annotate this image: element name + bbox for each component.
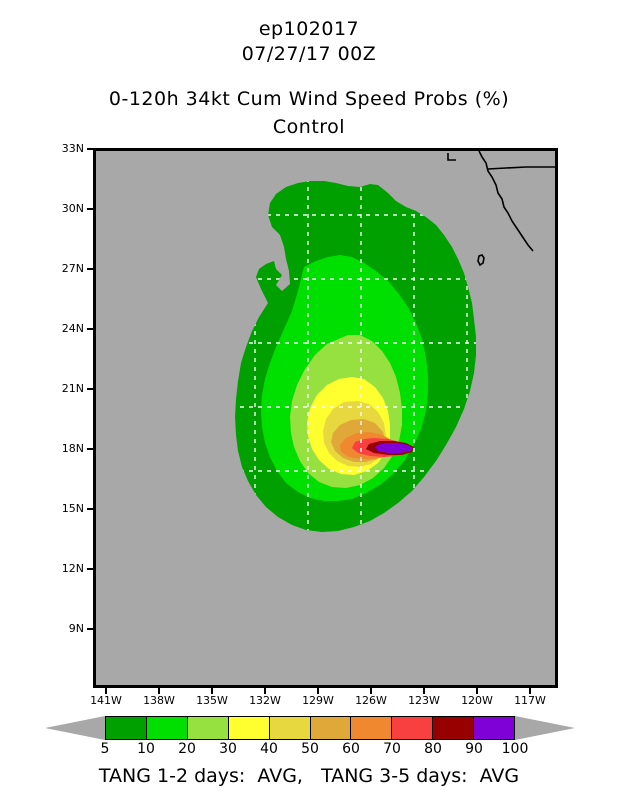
map-plot-area [96, 151, 555, 685]
colorbar-segments [105, 716, 515, 740]
y-tick-30n [87, 208, 93, 210]
colorbar-seg-80-90 [433, 717, 474, 739]
product-title: 0-120h 34kt Cum Wind Speed Probs (%) [0, 88, 618, 110]
y-tick-9n [87, 628, 93, 630]
y-tick-12n [87, 568, 93, 570]
y-tick-label-21n: 21N [50, 382, 84, 395]
y-tick-label-30n: 30N [50, 202, 84, 215]
y-tick-label-33n: 33N [50, 142, 84, 155]
y-tick-27n [87, 268, 93, 270]
colorbar-tick-100: 100 [495, 741, 535, 757]
y-tick-24n [87, 328, 93, 330]
guadalupe-island [478, 255, 484, 265]
x-tick-label-120w: 120W [457, 694, 497, 707]
x-tick-label-123w: 123W [404, 694, 444, 707]
tang-caption: TANG 1-2 days: AVG, TANG 3-5 days: AVG [0, 765, 618, 787]
colorbar-seg-90-100 [474, 717, 514, 739]
colorbar-seg-5-10 [106, 717, 147, 739]
colorbar-tick-40: 40 [249, 741, 289, 757]
map-plot-panel[interactable] [93, 148, 558, 688]
x-tick-label-117w: 117W [510, 694, 550, 707]
colorbar-seg-30-40 [229, 717, 270, 739]
x-tick-label-126w: 126W [351, 694, 391, 707]
colorbar-tick-5: 5 [85, 741, 125, 757]
x-tick-label-129w: 129W [298, 694, 338, 707]
storm-id-title: ep102017 [0, 18, 618, 40]
coastline-inland-border [488, 167, 555, 169]
colorbar-tick-10: 10 [126, 741, 166, 757]
valid-datetime-title: 07/27/17 00Z [0, 43, 618, 65]
y-tick-33n [87, 148, 93, 150]
colorbar-tick-90: 90 [454, 741, 494, 757]
colorbar-seg-20-30 [188, 717, 229, 739]
product-subtitle: Control [0, 116, 618, 138]
coastline-layer [96, 151, 555, 685]
x-tick-label-138w: 138W [139, 694, 179, 707]
colorbar-tick-50: 50 [290, 741, 330, 757]
y-tick-15n [87, 508, 93, 510]
x-tick-label-141w: 141W [86, 694, 126, 707]
colorbar-seg-40-50 [270, 717, 311, 739]
y-tick-label-9n: 9N [50, 622, 84, 635]
coastline-path [479, 151, 533, 251]
colorbar-tick-30: 30 [208, 741, 248, 757]
y-tick-21n [87, 388, 93, 390]
y-tick-label-24n: 24N [50, 322, 84, 335]
colorbar-tick-labels: 5 10 20 30 40 50 60 70 80 90 100 [0, 741, 618, 759]
x-tick-label-135w: 135W [192, 694, 232, 707]
x-tick-label-132w: 132W [245, 694, 285, 707]
colorbar-tick-60: 60 [331, 741, 371, 757]
y-tick-label-27n: 27N [50, 262, 84, 275]
colorbar-seg-10-20 [147, 717, 188, 739]
colorbar: 5 10 20 30 40 50 60 70 80 90 100 [0, 714, 618, 760]
y-tick-label-18n: 18N [50, 442, 84, 455]
colorbar-seg-70-80 [392, 717, 433, 739]
colorbar-tick-20: 20 [167, 741, 207, 757]
y-tick-label-12n: 12N [50, 562, 84, 575]
colorbar-seg-60-70 [351, 717, 392, 739]
colorbar-tick-70: 70 [372, 741, 412, 757]
coastline-small-notch [448, 153, 456, 160]
colorbar-tick-80: 80 [413, 741, 453, 757]
y-tick-18n [87, 448, 93, 450]
y-tick-label-15n: 15N [50, 502, 84, 515]
colorbar-over-arrow [515, 716, 575, 740]
colorbar-under-arrow [45, 716, 105, 740]
colorbar-seg-50-60 [311, 717, 352, 739]
